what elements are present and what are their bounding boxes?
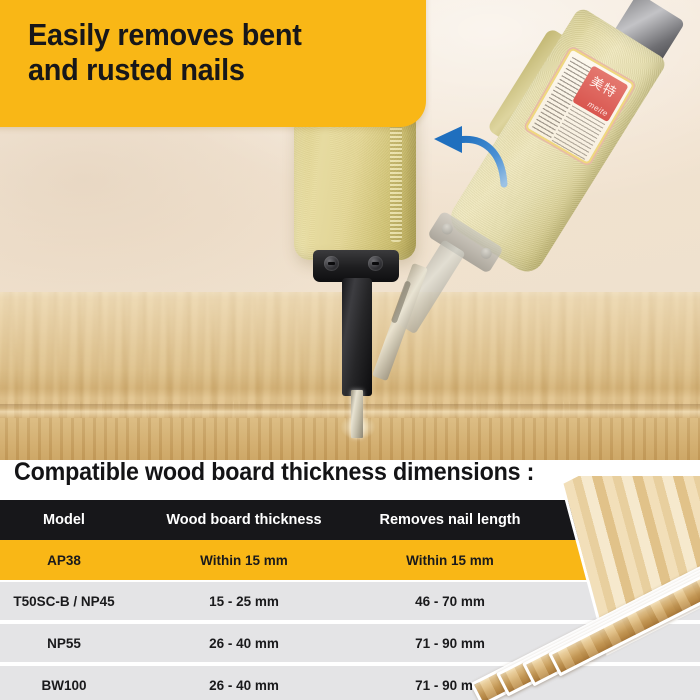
cell-model: AP38 (0, 553, 128, 568)
curved-left-arrow-icon (432, 118, 532, 194)
cell-model: T50SC-B / NP45 (0, 594, 128, 609)
curved-arrow-annotation (432, 118, 532, 194)
infographic-stage: 美特 meite (0, 0, 700, 700)
table-row: NP55 26 - 40 mm 71 - 90 mm (0, 624, 700, 662)
cell-thickness: Within 15 mm (128, 553, 360, 568)
cell-thickness: 26 - 40 mm (128, 678, 360, 693)
cell-thickness: 26 - 40 mm (128, 636, 360, 651)
cell-nail-length: 71 - 90 mm (360, 636, 540, 651)
cell-model: NP55 (0, 636, 128, 651)
tool-screw-icon (324, 256, 339, 271)
column-header-model: Model (0, 512, 128, 528)
cell-model: BW100 (0, 678, 128, 693)
table-header-row: Model Wood board thickness Removes nail … (0, 500, 700, 540)
section-heading: Compatible wood board thickness dimensio… (14, 458, 534, 487)
cell-nail-length: 46 - 70 mm (360, 594, 540, 609)
table-row: BW100 26 - 40 mm 71 - 90 mm (0, 666, 700, 700)
tool-metal-pin (351, 390, 363, 438)
product-photo-scene: 美特 meite (0, 0, 700, 460)
headline-text: Easily removes bent and rusted nails (28, 18, 383, 87)
column-header-nail-length: Removes nail length (360, 512, 540, 528)
tool-black-shaft (342, 278, 372, 396)
cell-thickness: 15 - 25 mm (128, 594, 360, 609)
compatibility-spec-table: Model Wood board thickness Removes nail … (0, 500, 700, 700)
label-cn-mark: 美特 (587, 71, 621, 101)
cell-nail-length: Within 15 mm (360, 553, 540, 568)
table-row: AP38 Within 15 mm Within 15 mm (0, 540, 700, 580)
cell-nail-length: 71 - 90 mm (360, 678, 540, 693)
table-row: T50SC-B / NP45 15 - 25 mm 46 - 70 mm (0, 582, 700, 620)
headline-banner: Easily removes bent and rusted nails (0, 0, 426, 127)
tool-screw-icon (368, 256, 383, 271)
column-header-thickness: Wood board thickness (128, 512, 360, 528)
